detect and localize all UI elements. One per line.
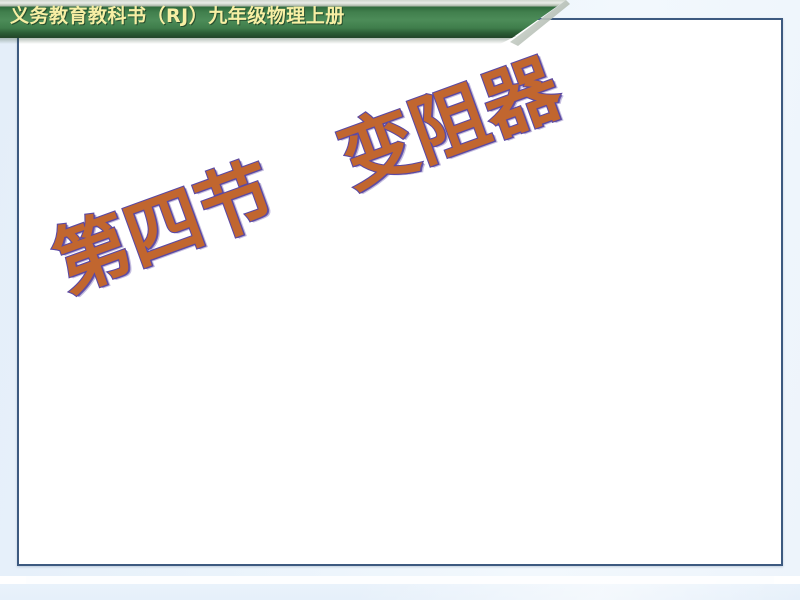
slide-title-text: 第四节 变阻器 bbox=[41, 40, 574, 312]
slide-background-bottom-sheen bbox=[360, 580, 800, 600]
textbook-banner: 义务教育教科书（RJ）九年级物理上册 bbox=[0, 0, 566, 46]
banner-title-text: 义务教育教科书（RJ）九年级物理上册 bbox=[10, 4, 345, 28]
slide-content-frame: 第四节 变阻器 bbox=[17, 18, 783, 566]
presentation-slide: 第四节 变阻器 义务教育教科书（RJ）九年级物理上册 bbox=[0, 0, 800, 600]
slide-title-wordart: 第四节 变阻器 bbox=[41, 17, 673, 410]
banner-drop-shadow bbox=[0, 36, 530, 44]
